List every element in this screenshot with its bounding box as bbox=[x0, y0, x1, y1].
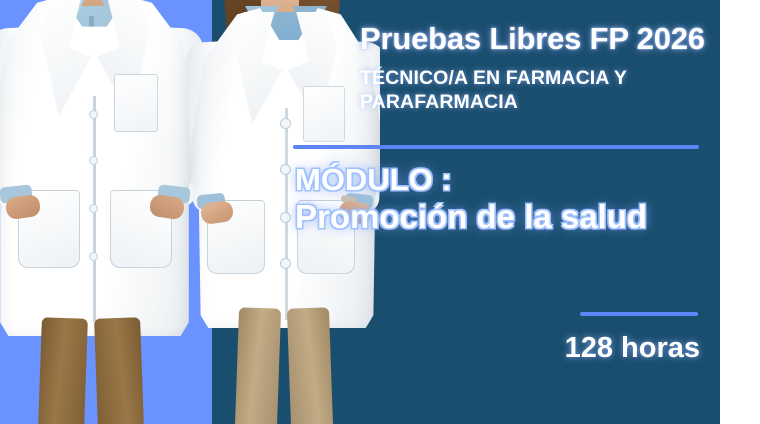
module-label: MÓDULO : bbox=[295, 164, 452, 197]
poster-canvas: Pruebas Libres FP 2026 TÉCNICO/A EN FARM… bbox=[0, 0, 760, 424]
text-overlay: Pruebas Libres FP 2026 TÉCNICO/A EN FARM… bbox=[0, 0, 760, 424]
poster-subtitle: TÉCNICO/A EN FARMACIA Y PARAFARMACIA bbox=[360, 66, 712, 115]
poster-title: Pruebas Libres FP 2026 bbox=[360, 22, 708, 55]
module-name: Promoción de la salud bbox=[295, 200, 647, 235]
course-hours: 128 horas bbox=[0, 332, 700, 365]
divider-hours bbox=[580, 312, 698, 316]
divider-main bbox=[293, 145, 699, 149]
